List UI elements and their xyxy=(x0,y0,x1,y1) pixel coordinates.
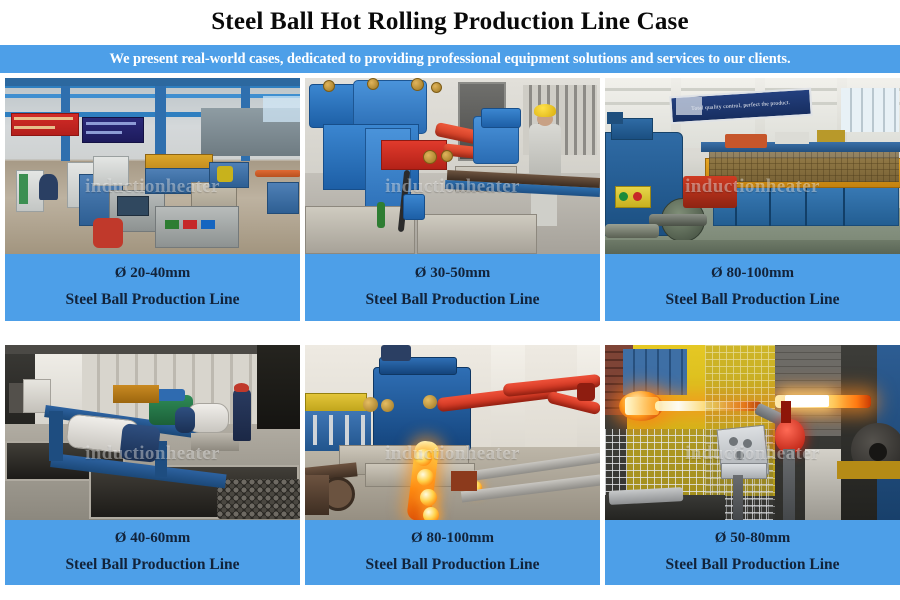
case-name-1: Steel Ball Production Line xyxy=(5,290,300,311)
case-caption-3: Ø 80-100mm Steel Ball Production Line xyxy=(605,254,900,321)
case-name-5: Steel Ball Production Line xyxy=(305,555,600,576)
case-caption-1: Ø 20-40mm Steel Ball Production Line xyxy=(5,254,300,321)
case-size-4: Ø 40-60mm xyxy=(5,528,300,548)
page-root: Steel Ball Hot Rolling Production Line C… xyxy=(0,0,900,600)
case-caption-4: Ø 40-60mm Steel Ball Production Line xyxy=(5,520,300,585)
page-title: Steel Ball Hot Rolling Production Line C… xyxy=(0,0,900,45)
subtitle-text: We present real-world cases, dedicated t… xyxy=(110,51,791,68)
gallery-item-case-2[interactable]: inductionheater Ø 30-50mm Steel Ball Pro… xyxy=(305,78,600,336)
case-size-3: Ø 80-100mm xyxy=(605,263,900,283)
case-name-3: Steel Ball Production Line xyxy=(605,290,900,311)
case-caption-2: Ø 30-50mm Steel Ball Production Line xyxy=(305,254,600,321)
gallery-item-case-3[interactable]: Total quality control, perfect the produ… xyxy=(605,78,900,336)
case-name-2: Steel Ball Production Line xyxy=(305,290,600,311)
case-photo-2: inductionheater xyxy=(305,78,600,254)
subtitle-bar: We present real-world cases, dedicated t… xyxy=(0,45,900,73)
gallery-item-case-5[interactable]: inductionheater Ø 80-100mm Steel Ball Pr… xyxy=(305,345,600,595)
case-size-2: Ø 30-50mm xyxy=(305,263,600,283)
case-caption-6: Ø 50-80mm Steel Ball Production Line xyxy=(605,520,900,585)
banner-text: Total quality control, perfect the produ… xyxy=(691,100,790,112)
case-gallery-grid: inductionheater Ø 20-40mm Steel Ball Pro… xyxy=(5,78,895,595)
case-photo-3: Total quality control, perfect the produ… xyxy=(605,78,900,254)
case-name-6: Steel Ball Production Line xyxy=(605,555,900,576)
case-photo-6: inductionheater xyxy=(605,345,900,520)
case-name-4: Steel Ball Production Line xyxy=(5,555,300,576)
case-size-5: Ø 80-100mm xyxy=(305,528,600,548)
case-photo-1: inductionheater xyxy=(5,78,300,254)
case-caption-5: Ø 80-100mm Steel Ball Production Line xyxy=(305,520,600,585)
gallery-item-case-4[interactable]: inductionheater Ø 40-60mm Steel Ball Pro… xyxy=(5,345,300,595)
case-size-1: Ø 20-40mm xyxy=(5,263,300,283)
gallery-item-case-1[interactable]: inductionheater Ø 20-40mm Steel Ball Pro… xyxy=(5,78,300,336)
case-photo-4: inductionheater xyxy=(5,345,300,520)
case-size-6: Ø 50-80mm xyxy=(605,528,900,548)
gallery-item-case-6[interactable]: inductionheater Ø 50-80mm Steel Ball Pro… xyxy=(605,345,900,595)
case-photo-5: inductionheater xyxy=(305,345,600,520)
